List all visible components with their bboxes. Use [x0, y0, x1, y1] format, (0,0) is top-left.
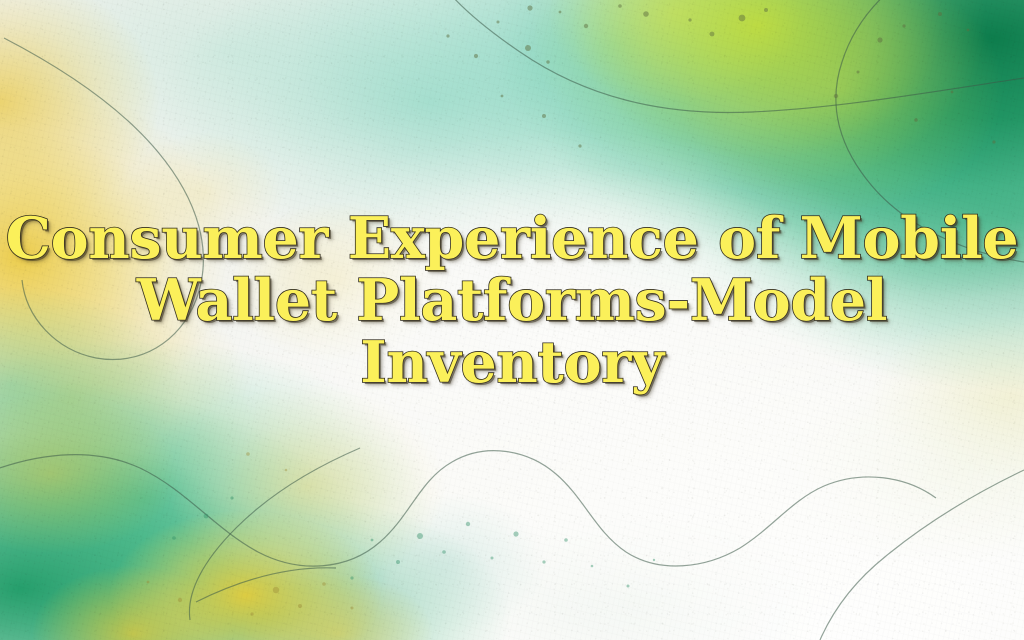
ink-spatter-group — [446, 4, 995, 147]
title-line-3: Inventory — [0, 332, 1024, 394]
banner-title: Consumer Experience of Mobile Wallet Pla… — [0, 208, 1024, 394]
title-line-2: Wallet Platforms-Model — [0, 270, 1024, 332]
banner-canvas: Consumer Experience of Mobile Wallet Pla… — [0, 0, 1024, 640]
title-line-1: Consumer Experience of Mobile — [0, 208, 1024, 270]
teal-spatter-group — [172, 496, 655, 587]
olive-spatter-group — [147, 452, 354, 615]
